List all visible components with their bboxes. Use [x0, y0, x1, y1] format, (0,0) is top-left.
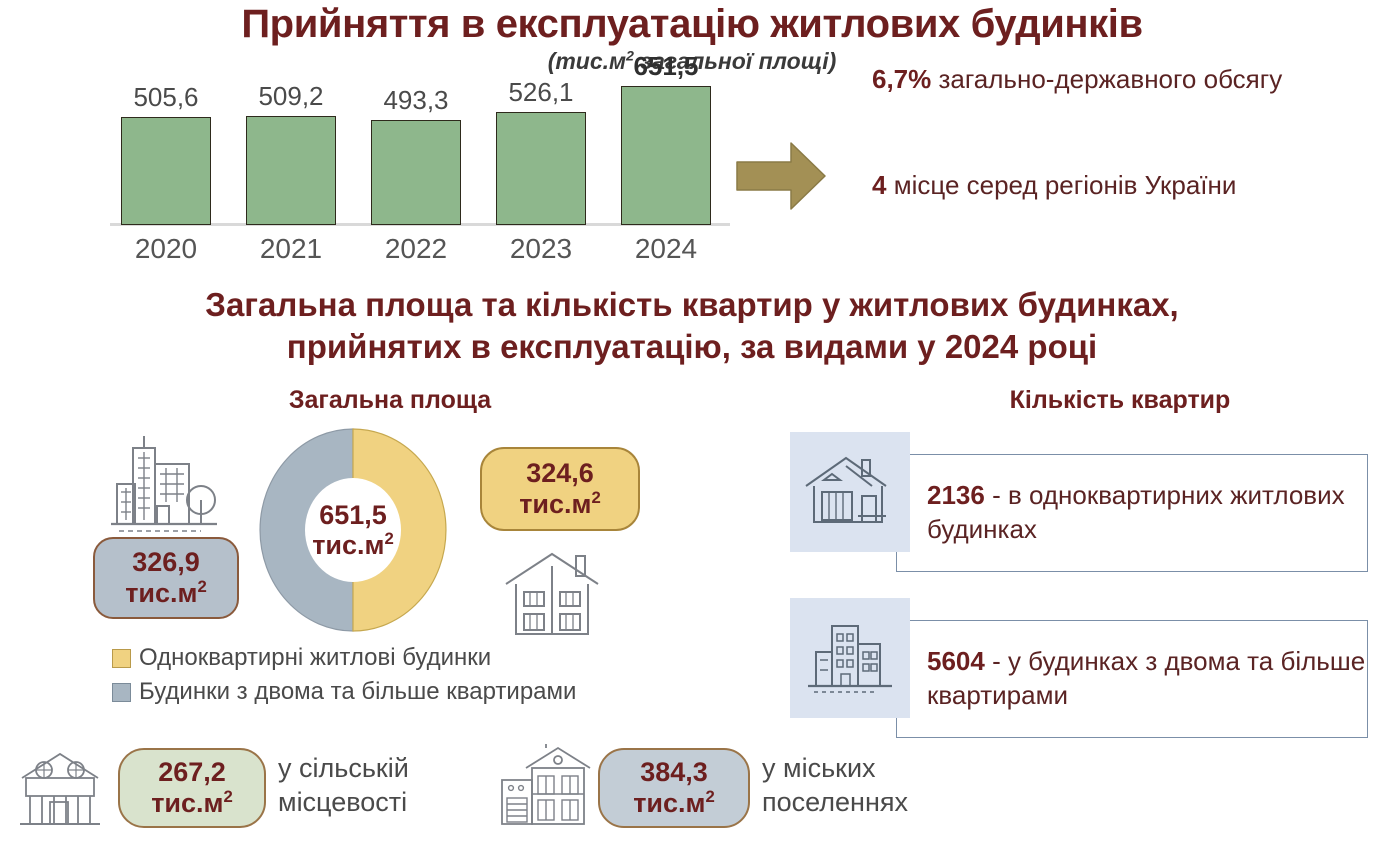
flats-card-text-box: 2136 - в одноквартирних житлових будинка…: [896, 454, 1368, 572]
donut-center-unit: тис.м2: [297, 530, 409, 560]
legend-swatch-icon: [112, 649, 131, 668]
bar-rect[interactable]: [496, 112, 586, 225]
village-house-icon: [12, 748, 108, 837]
urban-label: у міських поселеннях: [762, 752, 1002, 820]
share-text: загально-державного обсягу: [931, 64, 1282, 94]
flats-count-value: 2136: [927, 480, 985, 510]
multi-area-value: 326,9: [132, 548, 200, 578]
unit-sup: 2: [706, 787, 715, 806]
legend-label: Будинки з двома та більше квартирами: [139, 678, 576, 706]
unit-sup: 2: [224, 787, 233, 806]
unit-prefix: тис.м: [151, 788, 223, 818]
unit-prefix: тис.м: [125, 578, 197, 608]
bar-value-label: 509,2: [235, 81, 347, 112]
donut-unit-sup: 2: [385, 529, 394, 548]
bar-category-label: 2022: [360, 233, 472, 265]
single-family-house-icon: [802, 452, 898, 532]
flats-separator: -: [985, 646, 1008, 676]
unit-prefix: тис.м: [633, 788, 705, 818]
flats-card-icon-box: [790, 432, 910, 552]
townhouse-icon: [498, 742, 596, 837]
single-area-value: 324,6: [526, 459, 594, 489]
bar-category-label: 2020: [110, 233, 222, 265]
section-title-line-1: Загальна площа та кількість квартир у жи…: [0, 284, 1384, 326]
bar-rect[interactable]: [371, 120, 461, 225]
flats-card-text-box: 5604 - у будинках з двома та більше квар…: [896, 620, 1368, 738]
rural-area-badge: 267,2 тис.м2: [118, 748, 266, 828]
apartment-buildings-icon: [802, 618, 898, 698]
section-title-line-2: прийнятих в експлуатацію, за видами у 20…: [0, 326, 1384, 368]
urban-value: 384,3: [640, 758, 708, 788]
legend-item-single-family[interactable]: Одноквартирні житлові будинки: [112, 644, 712, 672]
bar-chart: 505,6 509,2 493,3 526,1 651,5 2020 2021 …: [110, 85, 730, 265]
bar-value-label: 505,6: [110, 82, 222, 113]
donut-legend: Одноквартирні житлові будинки Будинки з …: [112, 644, 712, 712]
flats-card-icon-box: [790, 598, 910, 718]
bar-value-label: 493,3: [360, 85, 472, 116]
bar-category-label: 2023: [485, 233, 597, 265]
bar-value-label: 526,1: [485, 77, 597, 108]
bar-rect[interactable]: [246, 116, 336, 225]
urban-area-badge: 384,3 тис.м2: [598, 748, 750, 828]
house-two-storey-icon: [500, 548, 604, 649]
rank-value: 4: [872, 170, 886, 200]
bar-rect[interactable]: [121, 117, 211, 225]
bar-column: 509,2: [235, 80, 347, 225]
unit-prefix: тис.м: [519, 489, 591, 519]
rural-unit: тис.м2: [151, 788, 233, 819]
share-value: 6,7%: [872, 64, 931, 94]
share-of-national-volume-note: 6,7% загально-державного обсягу: [872, 62, 1302, 96]
bar-category-label: 2021: [235, 233, 347, 265]
bar-category-label: 2024: [610, 233, 722, 265]
single-area-unit: тис.м2: [519, 489, 601, 520]
legend-item-multi-apartment[interactable]: Будинки з двома та більше квартирами: [112, 678, 712, 706]
donut-chart: 651,5 тис.м2: [258, 427, 448, 632]
section-title: Загальна площа та кількість квартир у жи…: [0, 284, 1384, 368]
flats-separator: -: [985, 480, 1008, 510]
total-area-heading: Загальна площа: [150, 386, 630, 415]
urban-unit: тис.м2: [633, 788, 715, 819]
legend-label: Одноквартирні житлові будинки: [139, 644, 491, 672]
flats-count-value: 5604: [927, 646, 985, 676]
city-skyline-icon: [105, 432, 223, 545]
unit-sup: 2: [198, 577, 207, 596]
bar-column: 493,3: [360, 80, 472, 225]
bar-rect[interactable]: [621, 86, 711, 225]
bar-column: 505,6: [110, 80, 222, 225]
right-arrow-icon: [735, 140, 827, 217]
unit-sup: 2: [592, 488, 601, 507]
rural-value: 267,2: [158, 758, 226, 788]
donut-center-value: 651,5: [297, 499, 409, 529]
multi-area-unit: тис.м2: [125, 578, 207, 609]
flats-card-text: 5604 - у будинках з двома та більше квар…: [927, 645, 1367, 713]
multi-apartment-area-badge: 326,9 тис.м2: [93, 537, 239, 619]
bar-column: 651,5: [610, 50, 722, 225]
rank-text: місце серед регіонів України: [886, 170, 1236, 200]
rural-label: у сільській місцевості: [278, 752, 498, 820]
legend-swatch-icon: [112, 683, 131, 702]
flats-count-heading: Кількість квартир: [880, 386, 1360, 415]
rank-among-regions-note: 4 місце серед регіонів України: [872, 168, 1302, 202]
page-title: Прийняття в експлуатацію житлових будинк…: [0, 2, 1384, 47]
donut-center-total: 651,5 тис.м2: [297, 499, 409, 559]
donut-unit-prefix: тис.м: [312, 530, 384, 560]
flats-card-text: 2136 - в одноквартирних житлових будинка…: [927, 479, 1367, 547]
bar-value-label: 651,5: [610, 51, 722, 82]
bar-column: 526,1: [485, 80, 597, 225]
single-family-area-badge: 324,6 тис.м2: [480, 447, 640, 531]
